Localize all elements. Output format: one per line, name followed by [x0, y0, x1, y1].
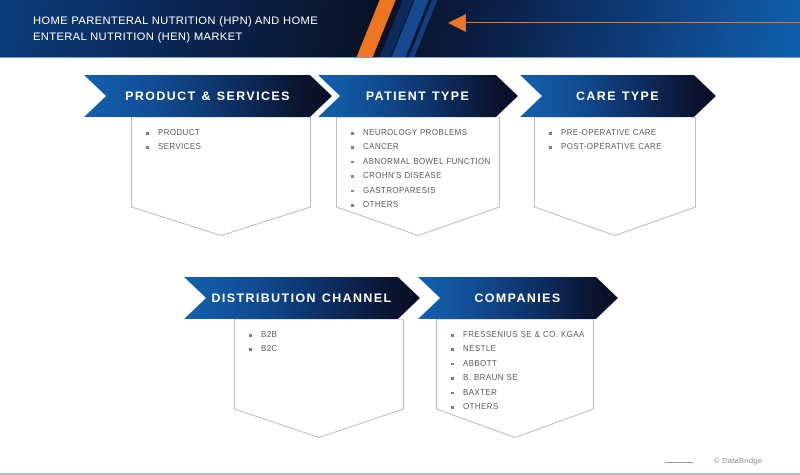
- segment-item-list: NEUROLOGY PROBLEMS CANCER ABNORMAL BOWEL…: [350, 126, 492, 212]
- page-title: HOME PARENTERAL NUTRITION (HPN) AND HOME…: [33, 13, 363, 45]
- list-item: SERVICES: [145, 140, 303, 154]
- list-item: GASTROPARESIS: [350, 184, 492, 198]
- segment-body: B2B B2C: [234, 319, 404, 438]
- segment-card-patient-type[interactable]: PATIENT TYPE NEUROLOGY PROBLEMS CANCER A…: [318, 75, 518, 117]
- footer-credit: © DataBridge: [714, 456, 762, 465]
- segment-card-product-services[interactable]: PRODUCT & SERVICES PRODUCT SERVICES: [84, 75, 332, 117]
- segment-banner: PRODUCT & SERVICES: [84, 75, 332, 117]
- list-item: ABNORMAL BOWEL FUNCTION: [350, 155, 492, 169]
- segment-banner: PATIENT TYPE: [318, 75, 518, 117]
- segment-item-list: PRE-OPERATIVE CARE POST-OPERATIVE CARE: [548, 126, 688, 155]
- list-item: CROHN'S DISEASE: [350, 169, 492, 183]
- list-item: B2B: [248, 328, 396, 342]
- segment-body: FRESSENIUS SE & CO. KGAA NESTLE ABBOTT B…: [436, 319, 594, 438]
- segment-item-list: B2B B2C: [248, 328, 396, 357]
- segment-banner: CARE TYPE: [520, 75, 716, 117]
- arrow-left-icon: [448, 14, 466, 32]
- list-item: ABBOTT: [450, 357, 586, 371]
- segment-banner: DISTRIBUTION CHANNEL: [184, 277, 420, 319]
- segment-item-list: FRESSENIUS SE & CO. KGAA NESTLE ABBOTT B…: [450, 328, 586, 414]
- list-item: B2C: [248, 342, 396, 356]
- segment-banner: COMPANIES: [418, 277, 618, 319]
- segment-body: NEUROLOGY PROBLEMS CANCER ABNORMAL BOWEL…: [336, 117, 500, 236]
- segment-title: CARE TYPE: [576, 89, 660, 103]
- list-item: NEUROLOGY PROBLEMS: [350, 126, 492, 140]
- header-arrow-line: [466, 22, 800, 23]
- list-item: B. BRAUN SE: [450, 371, 586, 385]
- list-item: PRODUCT: [145, 126, 303, 140]
- segment-body: PRE-OPERATIVE CARE POST-OPERATIVE CARE: [534, 117, 696, 236]
- list-item: BAXTER: [450, 386, 586, 400]
- list-item: OTHERS: [450, 400, 586, 414]
- page-header: HOME PARENTERAL NUTRITION (HPN) AND HOME…: [0, 0, 800, 58]
- segment-title: PRODUCT & SERVICES: [125, 89, 291, 103]
- segment-card-distribution-channel[interactable]: DISTRIBUTION CHANNEL B2B B2C: [184, 277, 420, 319]
- segment-card-care-type[interactable]: CARE TYPE PRE-OPERATIVE CARE POST-OPERAT…: [520, 75, 716, 117]
- segment-card-companies[interactable]: COMPANIES FRESSENIUS SE & CO. KGAA NESTL…: [418, 277, 618, 319]
- list-item: CANCER: [350, 140, 492, 154]
- infographic-page: HOME PARENTERAL NUTRITION (HPN) AND HOME…: [0, 0, 800, 475]
- list-item: PRE-OPERATIVE CARE: [548, 126, 688, 140]
- segment-title: PATIENT TYPE: [366, 89, 470, 103]
- segment-item-list: PRODUCT SERVICES: [145, 126, 303, 155]
- list-item: POST-OPERATIVE CARE: [548, 140, 688, 154]
- list-item: NESTLE: [450, 342, 586, 356]
- segment-title: COMPANIES: [474, 291, 561, 305]
- segment-title: DISTRIBUTION CHANNEL: [211, 291, 392, 305]
- list-item: FRESSENIUS SE & CO. KGAA: [450, 328, 586, 342]
- footer-divider: [665, 462, 693, 463]
- segment-body: PRODUCT SERVICES: [131, 117, 311, 236]
- list-item: OTHERS: [350, 198, 492, 212]
